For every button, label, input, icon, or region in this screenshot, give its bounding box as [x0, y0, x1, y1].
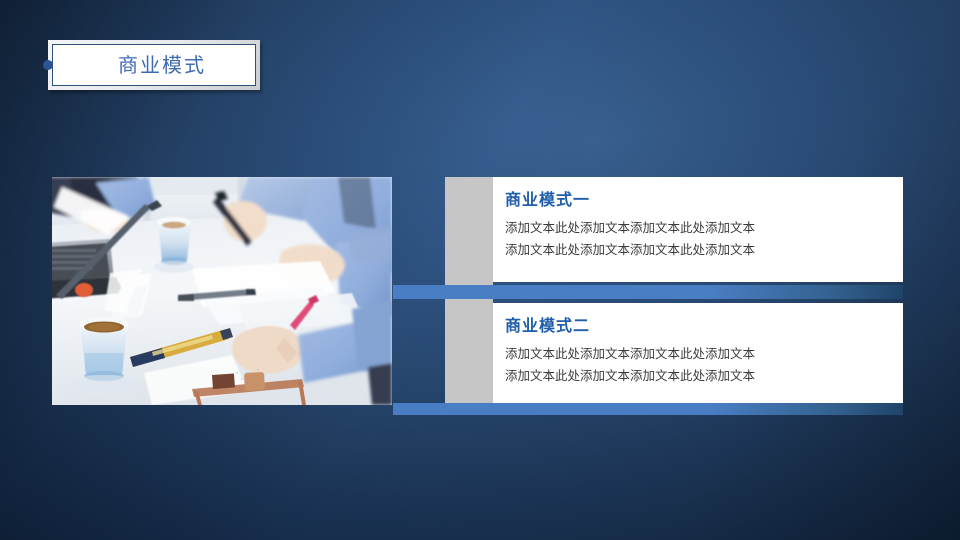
panel-1-line-1: 添加文本此处添加文本添加文本此处添加文本	[505, 217, 885, 239]
photo-artwork	[52, 177, 392, 405]
slide-title-box[interactable]: 商业模式	[52, 44, 256, 86]
bottom-accent-bar	[393, 403, 903, 415]
panel-1-line-2: 添加文本此处添加文本添加文本此处添加文本	[505, 239, 885, 261]
content-panel-2-inner: 商业模式二 添加文本此处添加文本添加文本此处添加文本 添加文本此处添加文本添加文…	[493, 303, 903, 397]
panel-2-heading: 商业模式二	[505, 317, 885, 335]
page-title: 商业模式	[102, 55, 206, 75]
content-panel-2[interactable]: 商业模式二 添加文本此处添加文本添加文本此处添加文本 添加文本此处添加文本添加文…	[493, 303, 903, 405]
content-panel-1[interactable]: 商业模式一 添加文本此处添加文本添加文本此处添加文本 添加文本此处添加文本添加文…	[493, 177, 903, 282]
content-panel-1-inner: 商业模式一 添加文本此处添加文本添加文本此处添加文本 添加文本此处添加文本添加文…	[493, 177, 903, 271]
slide-canvas: 商业模式	[0, 0, 960, 540]
panel-divider-bar	[393, 285, 903, 299]
panel-2-line-1: 添加文本此处添加文本添加文本此处添加文本	[505, 343, 885, 365]
dot-bullet-icon	[43, 60, 53, 70]
slide-title-frame[interactable]: 商业模式	[48, 40, 260, 90]
panel-2-line-2: 添加文本此处添加文本添加文本此处添加文本	[505, 365, 885, 387]
panel-1-heading: 商业模式一	[505, 191, 885, 209]
business-meeting-photo	[52, 177, 392, 405]
